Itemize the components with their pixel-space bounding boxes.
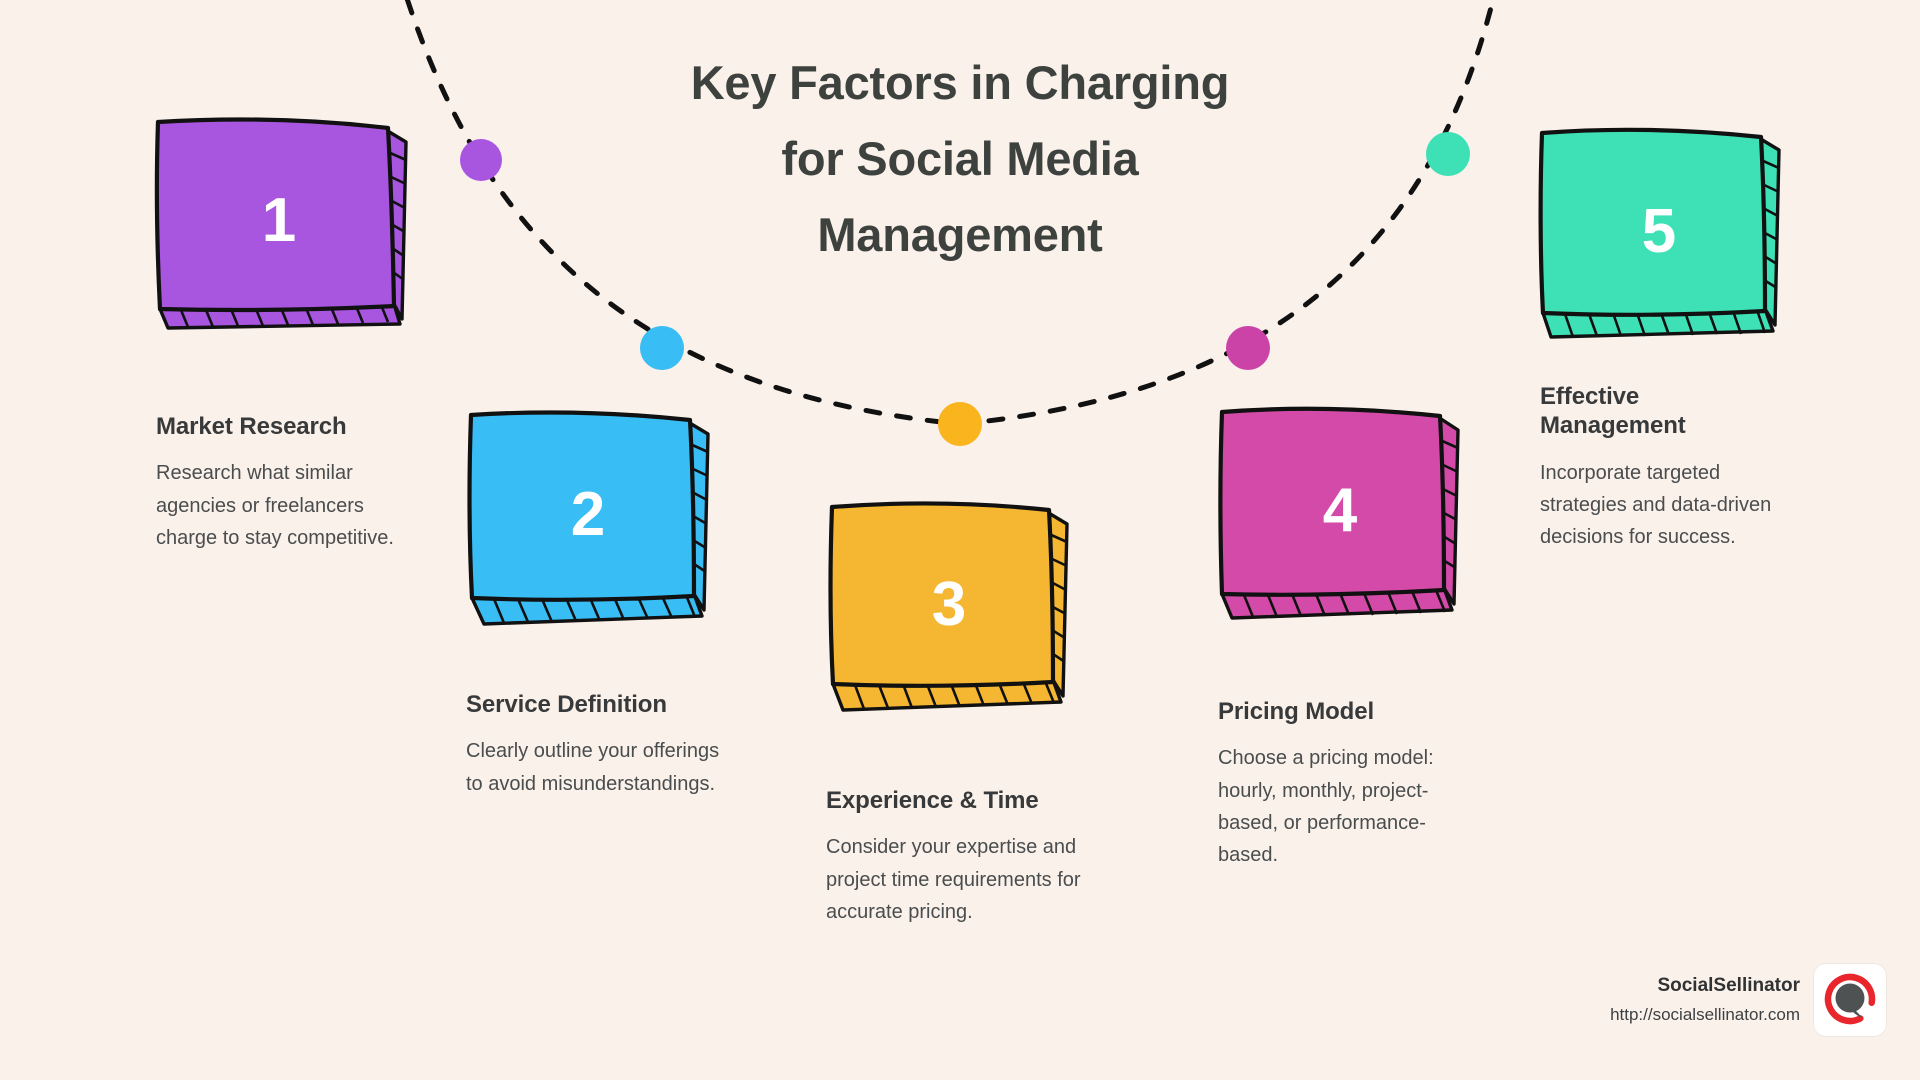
- curve-dot-1: [460, 139, 502, 181]
- step-card-1[interactable]: 1: [150, 114, 408, 326]
- step-card-5[interactable]: 5: [1535, 125, 1783, 337]
- step-body-2: Clearly outline your offerings to avoid …: [466, 735, 738, 800]
- title-line-1: Key Factors in Charging: [560, 45, 1360, 121]
- socialsellinator-logo: [1814, 964, 1886, 1036]
- step-heading-5: Effective Management: [1540, 382, 1772, 441]
- step-heading-1: Market Research: [156, 412, 418, 441]
- step-text-5: Effective Management Incorporate targete…: [1540, 382, 1772, 554]
- step-heading-2: Service Definition: [466, 690, 738, 719]
- step-text-4: Pricing Model Choose a pricing model: ho…: [1218, 697, 1476, 872]
- title-line-3: Management: [560, 197, 1360, 273]
- infographic-canvas: 1 Market Research Research what similar …: [0, 0, 1920, 1080]
- footer-text: SocialSellinator http://socialsellinator…: [1610, 974, 1800, 1026]
- footer-branding: SocialSellinator http://socialsellinator…: [1610, 964, 1886, 1036]
- step-text-1: Market Research Research what similar ag…: [156, 412, 418, 554]
- step-heading-3: Experience & Time: [826, 786, 1088, 815]
- page-title: Key Factors in Charging for Social Media…: [560, 45, 1360, 273]
- curve-dot-2: [640, 326, 684, 370]
- step-card-2[interactable]: 2: [464, 408, 712, 620]
- step-card-4[interactable]: 4: [1216, 404, 1464, 616]
- curve-dot-4: [1226, 326, 1270, 370]
- speech-bubble-ring-icon: [1821, 971, 1879, 1029]
- step-heading-4: Pricing Model: [1218, 697, 1476, 726]
- step-text-2: Service Definition Clearly outline your …: [466, 690, 738, 800]
- step-body-5: Incorporate targeted strategies and data…: [1540, 457, 1772, 554]
- title-line-2: for Social Media: [560, 121, 1360, 197]
- curve-dot-3: [938, 402, 982, 446]
- step-card-3[interactable]: 3: [825, 498, 1073, 710]
- step-text-3: Experience & Time Consider your expertis…: [826, 786, 1088, 928]
- brand-name: SocialSellinator: [1610, 974, 1800, 999]
- curve-dot-5: [1426, 132, 1470, 176]
- step-body-3: Consider your expertise and project time…: [826, 831, 1088, 928]
- brand-url[interactable]: http://socialsellinator.com: [1610, 1004, 1800, 1026]
- step-body-4: Choose a pricing model: hourly, monthly,…: [1218, 742, 1476, 872]
- step-body-1: Research what similar agencies or freela…: [156, 457, 418, 554]
